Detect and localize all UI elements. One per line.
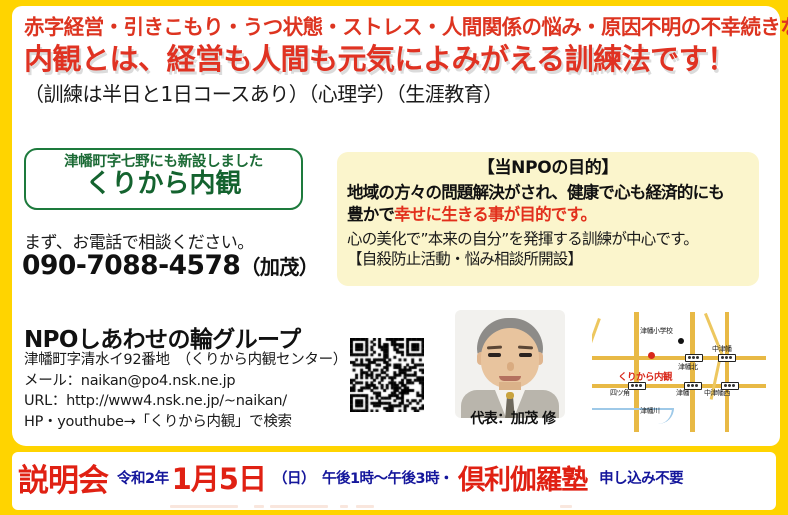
qr-code-icon[interactable] xyxy=(350,338,424,412)
flyer-page: 赤字経営・引きこもり・うつ状態・ストレス・人間関係の悩み・原因不明の不幸続きなど… xyxy=(0,0,788,515)
phone-digits: 090-7088-4578 xyxy=(22,250,240,281)
headline-subline: 赤字経営・引きこもり・うつ状態・ストレス・人間関係の悩み・原因不明の不幸続きなど… xyxy=(24,16,764,40)
npo-group-title: NPOしあわせの輪グループ xyxy=(24,320,300,354)
banner-time: 午後1時～午後3時・ xyxy=(322,467,453,488)
headline-main: 内観とは、経営も人間も元気によみがえる訓練法です！ xyxy=(24,42,764,77)
representative-caption: 代表：加茂 修 xyxy=(455,408,571,428)
map-label: 津幡 xyxy=(676,388,689,398)
purpose-title: 【当NPOの目的】 xyxy=(347,157,749,179)
purpose-bold-prefix: 豊かで xyxy=(347,205,394,224)
access-map: 津幡小学校中津幡津幡北くりから内観四ツ角津幡中津幡西津幡川 xyxy=(592,312,766,432)
cut-off-row xyxy=(170,503,600,513)
phone-number[interactable]: 090-7088-4578（加茂） xyxy=(22,250,318,281)
phone-contact-name: （加茂） xyxy=(240,255,318,279)
purpose-bold-line-1: 地域の方々の問題解決がされ、健康で心も経済的にも xyxy=(347,182,749,204)
npo-purpose-box: 【当NPOの目的】 地域の方々の問題解決がされ、健康で心も経済的にも 豊かで幸せ… xyxy=(337,152,759,286)
purpose-normal-line-2: 【自殺防止活動・悩み相談所開設】 xyxy=(347,249,749,270)
map-marker-kurikara xyxy=(648,352,655,359)
npo-mail[interactable]: メール：naikan@po4.nsk.ne.jp xyxy=(24,371,347,392)
npo-address: 津幡町字清水イ92番地 （くりから内観センター） xyxy=(24,350,347,371)
map-label: 中津幡 xyxy=(712,344,732,354)
map-label: くりから内観 xyxy=(618,369,672,383)
npo-contact-block: 津幡町字清水イ92番地 （くりから内観センター） メール：naikan@po4.… xyxy=(24,350,347,432)
event-banner: 説明会 令和2年 1月5日 （日） 午後1時～午後3時・ 倶利伽羅塾 申し込み不… xyxy=(18,455,774,499)
npo-url[interactable]: URL：http://www4.nsk.ne.jp/~naikan/ xyxy=(24,391,347,412)
banner-event-type: 説明会 xyxy=(18,455,108,500)
headline-note: （訓練は半日と1日コースあり）（心理学）（生涯教育） xyxy=(24,82,764,106)
map-label: 津幡北 xyxy=(678,362,698,372)
purpose-highlight: 幸せに生きる事が目的です。 xyxy=(394,205,596,224)
representative-photo xyxy=(455,310,565,418)
map-label: 中津幡西 xyxy=(704,388,730,398)
banner-date: 1月5日 xyxy=(172,456,266,498)
npo-search-hint: HP・youthube→「くりから内観」で検索 xyxy=(24,412,347,433)
banner-era-year: 令和2年 xyxy=(117,467,169,488)
kurikara-naikan-box: 津幡町字七野にも新設しました くりから内観 xyxy=(24,148,303,210)
map-label: 津幡川 xyxy=(640,406,660,416)
map-label: 四ツ角 xyxy=(610,388,630,398)
green-box-title: くりから内観 xyxy=(26,170,301,200)
purpose-normal-line-1: 心の美化で”本来の自分”を発揮する訓練が中心です。 xyxy=(347,229,749,250)
map-marker-school xyxy=(678,338,684,344)
banner-no-reservation-note: 申し込み不要 xyxy=(599,467,683,488)
banner-venue: 倶利伽羅塾 xyxy=(458,458,587,497)
map-label: 津幡小学校 xyxy=(640,326,673,336)
banner-weekday: （日） xyxy=(273,467,315,488)
purpose-bold-line-2: 豊かで幸せに生きる事が目的です。 xyxy=(347,204,749,226)
headline-block: 赤字経営・引きこもり・うつ状態・ストレス・人間関係の悩み・原因不明の不幸続きなど… xyxy=(24,16,764,106)
